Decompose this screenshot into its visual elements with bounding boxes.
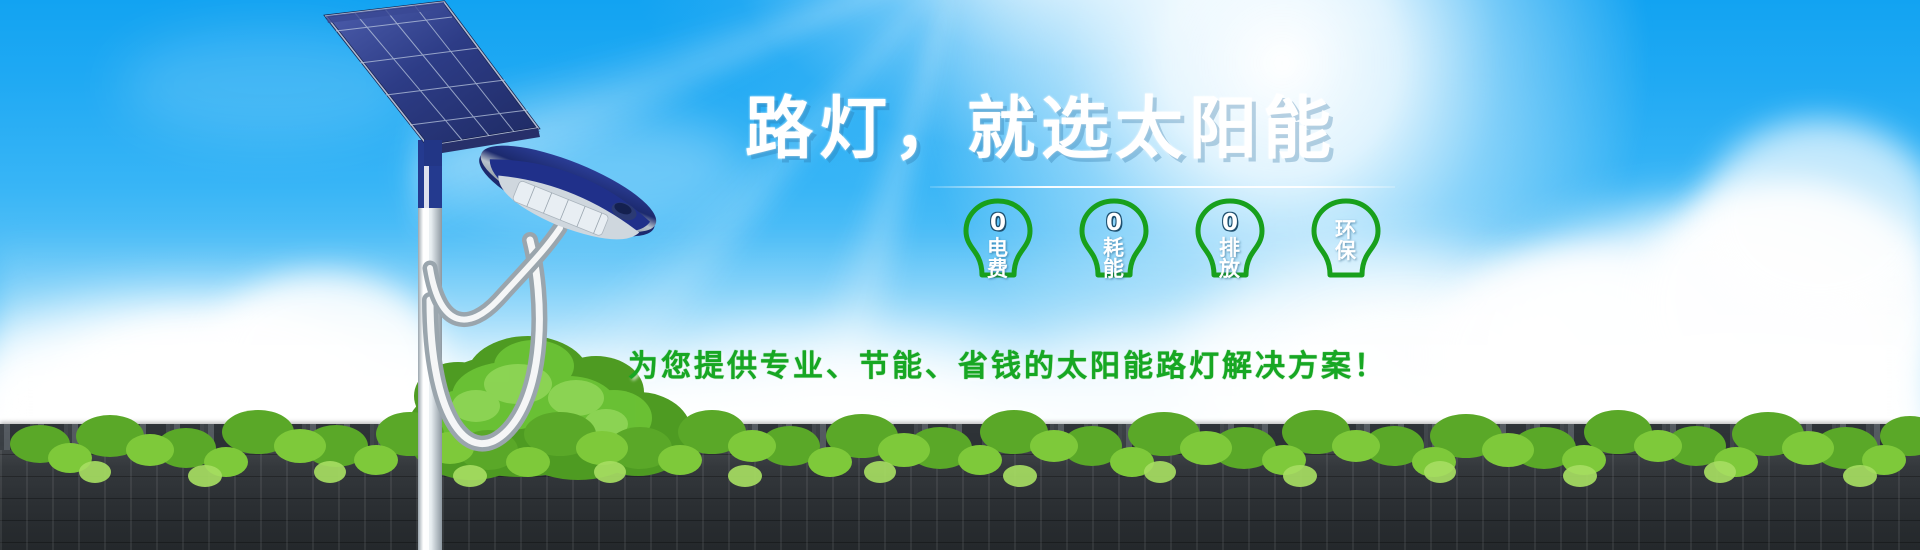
- roof-tile-row: [0, 424, 1920, 450]
- solar-streetlight-banner: 路灯，就选太阳能 0 电 费: [0, 0, 1920, 550]
